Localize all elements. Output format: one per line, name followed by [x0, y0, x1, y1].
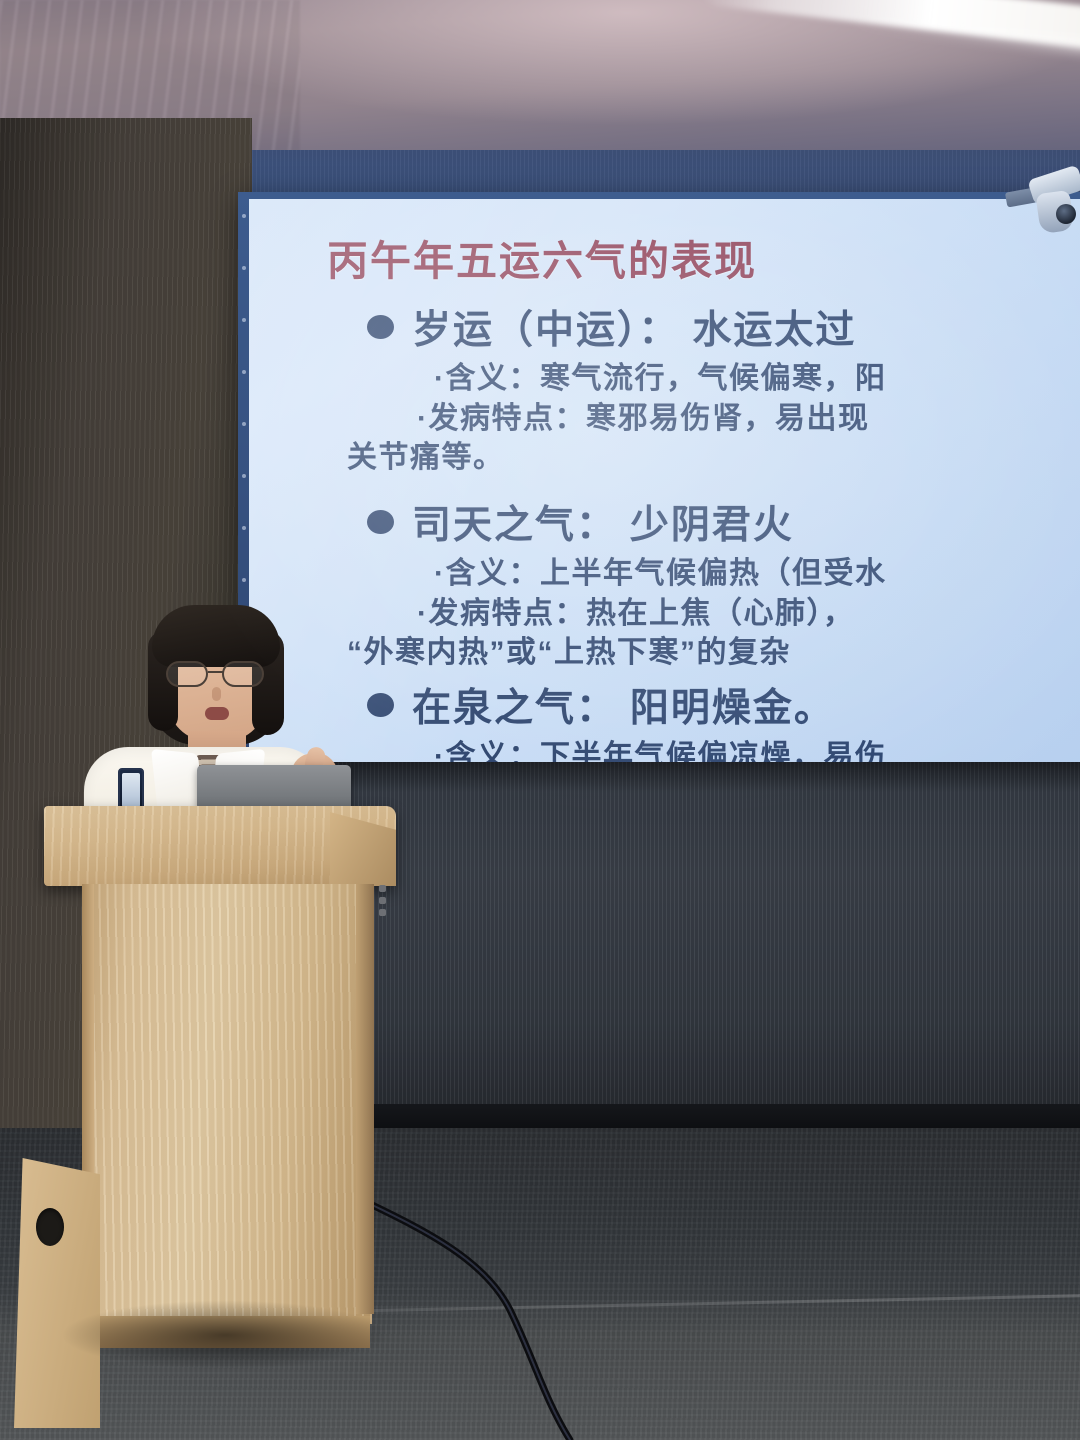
bullet-icon [367, 510, 394, 534]
section-1-lead: 岁运（中运）： 水运太过 [412, 299, 856, 355]
section-2-lead: 司天之气： 少阴君火 [412, 494, 794, 550]
section-1-line-1: ·含义：寒气流行，气候偏寒，阳 [249, 359, 1080, 399]
section-2-line-1: ·含义：上半年气候偏热（但受水 [249, 554, 1080, 594]
podium-side-panel [14, 1158, 100, 1428]
laptop[interactable] [197, 765, 351, 807]
speaker-nose [212, 687, 221, 701]
podium-body-grain [82, 884, 372, 1324]
podium-right-edge [356, 884, 374, 1314]
section-1-line-2: ·发病特点：寒邪易伤肾，易出现 [249, 399, 1080, 439]
eyeglasses-lens-left [166, 661, 208, 687]
podium-control-buttons[interactable] [378, 884, 388, 918]
slide-section-1: 岁运（中运）： 水运太过 ·含义：寒气流行，气候偏寒，阳 ·发病特点：寒邪易伤肾… [249, 299, 1080, 478]
camera-lens-icon [1056, 204, 1076, 224]
lecture-photo-scene: 丙午年五运六气的表现 岁运（中运）： 水运太过 ·含义：寒气流行，气候偏寒，阳 … [0, 0, 1080, 1440]
bullet-icon [367, 315, 394, 339]
smartphone-screen [122, 773, 140, 807]
speaker-hair-front [152, 605, 280, 667]
section-1-line-3: 关节痛等。 [249, 438, 1080, 478]
podium-floor-shadow [60, 1300, 390, 1370]
eyeglasses-lens-right [222, 661, 264, 687]
section-1-lead-row: 岁运（中运）： 水运太过 [249, 299, 1080, 355]
ceiling-camera-icon [1004, 168, 1080, 240]
eyeglasses-icon [164, 661, 272, 687]
speaker-mouth [205, 707, 229, 720]
side-panel-handle-hole [36, 1208, 64, 1246]
floor-cable [330, 1180, 750, 1440]
slide-title: 丙午年五运六气的表现 [327, 227, 757, 287]
section-2-lead-row: 司天之气： 少阴君火 [249, 494, 1080, 550]
section-3-lead: 在泉之气： 阳明燥金。 [412, 677, 835, 733]
